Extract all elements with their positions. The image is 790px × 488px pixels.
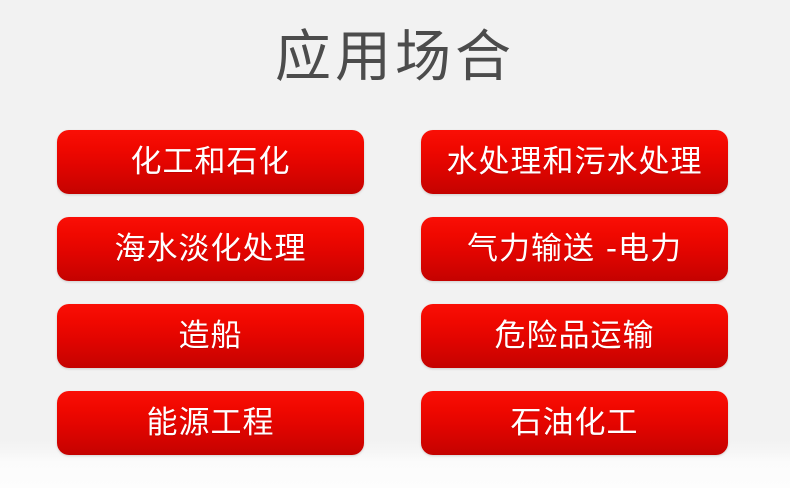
- page-title: 应用场合: [0, 22, 790, 94]
- application-button-label: 危险品运输: [495, 319, 655, 353]
- application-button-label: 化工和石化: [131, 145, 291, 179]
- application-button-pneumatic-conveying-power[interactable]: 气力输送 -电力: [421, 217, 728, 281]
- application-button-label: 石油化工: [511, 406, 639, 440]
- application-button-shipbuilding[interactable]: 造船: [57, 304, 364, 368]
- application-button-label: 造船: [179, 319, 243, 353]
- application-button-label: 水处理和污水处理: [447, 145, 703, 179]
- application-button-seawater-desalination[interactable]: 海水淡化处理: [57, 217, 364, 281]
- application-button-label: 气力输送 -电力: [467, 232, 682, 266]
- application-scenarios-page: 应用场合 化工和石化 水处理和污水处理 海水淡化处理 气力输送 -电力 造船 危…: [0, 0, 790, 488]
- application-button-hazardous-goods-transport[interactable]: 危险品运输: [421, 304, 728, 368]
- application-button-petrochemical[interactable]: 石油化工: [421, 391, 728, 455]
- application-button-label: 能源工程: [147, 406, 275, 440]
- application-button-water-treatment[interactable]: 水处理和污水处理: [421, 130, 728, 194]
- application-buttons-grid: 化工和石化 水处理和污水处理 海水淡化处理 气力输送 -电力 造船 危险品运输 …: [57, 130, 728, 455]
- application-button-label: 海水淡化处理: [115, 232, 307, 266]
- application-button-chemical-petrochemical[interactable]: 化工和石化: [57, 130, 364, 194]
- application-button-energy-engineering[interactable]: 能源工程: [57, 391, 364, 455]
